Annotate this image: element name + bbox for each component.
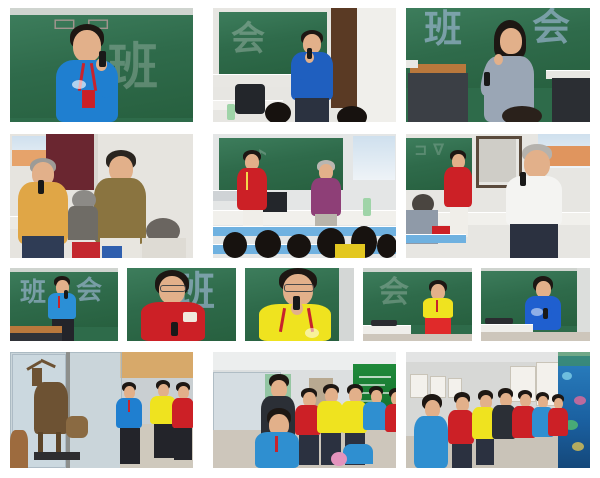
collage-photo-r2c2[interactable]: ⌁ (213, 134, 396, 258)
collage-photo-r3c3[interactable] (245, 268, 354, 341)
collage-photo-r4c3[interactable] (406, 352, 590, 468)
collage-photo-r2c3[interactable]: ⊐ ∇ (406, 134, 590, 258)
collage-photo-r1c3[interactable]: 班 会 (406, 8, 590, 122)
collage-photo-r3c4[interactable]: 会 (363, 268, 472, 341)
collage-photo-r4c2[interactable] (213, 352, 396, 468)
collage-photo-r2c1[interactable] (10, 134, 193, 258)
collage-photo-r3c5[interactable] (481, 268, 590, 341)
collage-photo-r1c1[interactable]: ▭ ▭ 班 (10, 8, 193, 122)
collage-photo-r3c1[interactable]: 班 会 (10, 268, 118, 341)
collage-photo-r4c1[interactable] (10, 352, 193, 468)
photo-collage: ▭ ▭ 班 会 (0, 0, 600, 478)
collage-photo-r1c2[interactable]: 会 (213, 8, 396, 122)
collage-photo-r3c2[interactable]: 班 (127, 268, 236, 341)
